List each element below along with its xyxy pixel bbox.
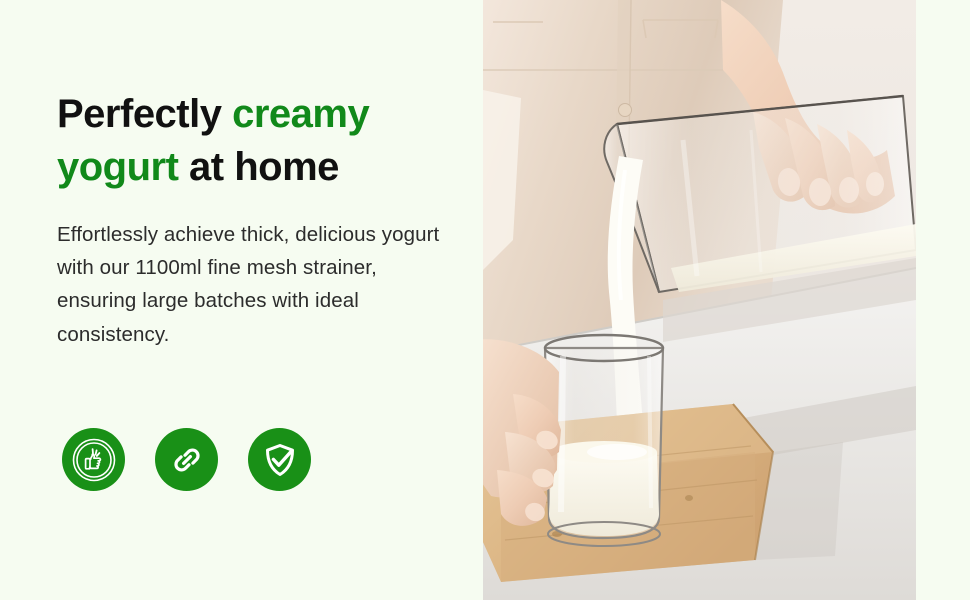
feature-icon-link [155,428,218,491]
feature-icon-shield-check [248,428,311,491]
headline-line1-green: creamy [232,92,369,136]
feature-icon-row [62,428,311,491]
photo-right-margin [916,0,970,600]
thumbs-up-in-circle-icon [70,436,118,484]
headline-line2-black: at home [178,145,338,189]
headline-line2-green: yogurt [57,145,178,189]
page-title: Perfectly creamyyogurt at home [57,88,457,194]
chain-link-icon [167,440,207,480]
feature-icon-thumbs-up [62,428,125,491]
headline-line1-black: Perfectly [57,92,232,136]
product-feature-banner: Perfectly creamyyogurt at home Effortles… [0,0,970,600]
copy-panel: Perfectly creamyyogurt at home Effortles… [0,0,483,600]
product-lifestyle-photo [483,0,916,600]
subcopy-text: Effortlessly achieve thick, delicious yo… [57,218,447,351]
shield-check-icon [258,438,302,482]
